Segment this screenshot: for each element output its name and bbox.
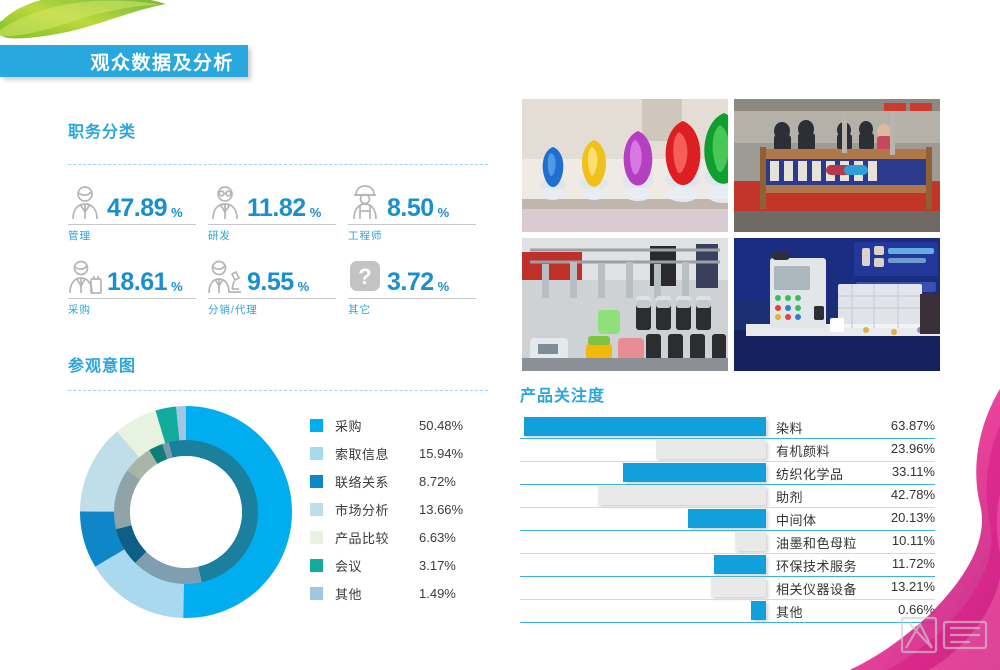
visit-intent-section: 参观意图 采购 50.48% 索取信息 15.94% 联络关系 8.72% 市场… xyxy=(68,352,488,623)
percent-sign: % xyxy=(310,205,322,220)
intent-legend: 采购 50.48% 索取信息 15.94% 联络关系 8.72% 市场分析 13… xyxy=(310,411,463,607)
product-bar-row: 中间体 20.13% xyxy=(520,508,950,531)
product-bar-row: 染料 63.87% xyxy=(520,416,950,439)
legend-value: 1.49% xyxy=(419,586,456,601)
job-label: 分销/代理 xyxy=(208,302,340,317)
legend-value: 50.48% xyxy=(419,418,463,433)
job-item: 9.55 % 分销/代理 xyxy=(208,259,348,317)
product-bar xyxy=(711,578,766,597)
legend-label: 会议 xyxy=(335,556,419,575)
intent-section-title: 参观意图 xyxy=(68,352,488,376)
product-value: 13.21% xyxy=(776,579,935,594)
product-bar xyxy=(751,601,766,620)
legend-swatch xyxy=(310,587,323,600)
bar-track xyxy=(520,577,766,600)
job-section-title: 职务分类 xyxy=(68,118,488,142)
legend-row: 市场分析 13.66% xyxy=(310,495,463,523)
legend-label: 其他 xyxy=(335,584,419,603)
product-bar-row: 有机颜料 23.96% xyxy=(520,439,950,462)
svg-text:?: ? xyxy=(358,264,371,289)
job-label: 管理 xyxy=(68,228,200,243)
bar-track xyxy=(520,439,766,462)
job-underline xyxy=(208,224,336,225)
engineer-hardhat-icon xyxy=(348,185,382,221)
product-section-title: 产品关注度 xyxy=(520,382,950,406)
product-bar xyxy=(656,440,766,459)
intent-donut-chart xyxy=(76,401,296,623)
legend-swatch xyxy=(310,419,323,432)
product-attention-section: 产品关注度 染料 63.87% 有机颜料 23.96% 纺织化学品 33.11%… xyxy=(520,382,950,623)
bar-track xyxy=(520,531,766,554)
percent-sign: % xyxy=(171,279,183,294)
product-value: 20.13% xyxy=(776,510,935,525)
percent-sign: % xyxy=(298,279,310,294)
legend-swatch xyxy=(310,503,323,516)
product-value: 10.11% xyxy=(776,533,935,548)
product-value: 23.96% xyxy=(776,441,935,456)
distributor-microscope-icon xyxy=(208,259,242,295)
percent-sign: % xyxy=(438,279,450,294)
product-bar-row: 其他 0.66% xyxy=(520,600,950,623)
job-percent: 9.55 xyxy=(247,270,294,295)
legend-swatch xyxy=(310,447,323,460)
product-bar xyxy=(714,555,766,574)
percent-sign: % xyxy=(438,205,450,220)
product-value: 63.87% xyxy=(776,418,935,433)
legend-label: 采购 xyxy=(335,416,419,435)
job-percent: 8.50 xyxy=(387,196,434,221)
job-divider xyxy=(68,164,488,165)
product-bar-row: 环保技术服务 11.72% xyxy=(520,554,950,577)
product-bar xyxy=(623,463,766,482)
legend-swatch xyxy=(310,531,323,544)
legend-row: 索取信息 15.94% xyxy=(310,439,463,467)
photo-grid xyxy=(522,99,940,371)
job-underline xyxy=(348,298,476,299)
researcher-goggles-icon xyxy=(208,185,242,221)
legend-row: 采购 50.48% xyxy=(310,411,463,439)
product-bar xyxy=(688,509,766,528)
product-bar-row: 相关仪器设备 13.21% xyxy=(520,577,950,600)
page-title: 观众数据及分析 xyxy=(90,48,234,75)
row-underline xyxy=(520,622,935,624)
bar-track xyxy=(520,485,766,508)
job-underline xyxy=(68,298,196,299)
legend-value: 6.63% xyxy=(419,530,456,545)
job-percent: 11.82 xyxy=(247,196,306,221)
job-item: 8.50 % 工程师 xyxy=(348,185,488,243)
legend-value: 8.72% xyxy=(419,474,456,489)
donut-center-hole xyxy=(130,456,242,568)
exhibition-machinery-photo xyxy=(734,99,940,232)
legend-value: 13.66% xyxy=(419,502,463,517)
product-bar-row: 助剂 42.78% xyxy=(520,485,950,508)
product-bar xyxy=(524,417,766,436)
manager-person-icon xyxy=(68,185,102,221)
product-bar-row: 油墨和色母粒 10.11% xyxy=(520,531,950,554)
bar-track xyxy=(520,462,766,485)
job-underline xyxy=(68,224,196,225)
product-value: 42.78% xyxy=(776,487,935,502)
legend-value: 3.17% xyxy=(419,558,456,573)
job-label: 工程师 xyxy=(348,228,480,243)
intent-divider xyxy=(68,390,488,391)
job-percent: 18.61 xyxy=(107,270,167,295)
job-item: 11.82 % 研发 xyxy=(208,185,348,243)
legend-swatch xyxy=(310,475,323,488)
legend-row: 产品比较 6.63% xyxy=(310,523,463,551)
percent-sign: % xyxy=(171,205,183,220)
product-bar-row: 纺织化学品 33.11% xyxy=(520,462,950,485)
product-bar xyxy=(598,486,766,505)
legend-row: 会议 3.17% xyxy=(310,551,463,579)
product-value: 33.11% xyxy=(776,464,935,479)
job-grid: 47.89 % 管理 11.82 % 研发 8.50 % 工程师 xyxy=(68,185,488,317)
job-percent: 3.72 xyxy=(387,270,434,295)
green-leaf-decoration xyxy=(0,0,194,44)
job-label: 采购 xyxy=(68,302,200,317)
legend-swatch xyxy=(310,559,323,572)
job-percent: 47.89 xyxy=(107,196,167,221)
job-item: ? 3.72 % 其它 xyxy=(348,259,488,317)
job-item: 18.61 % 采购 xyxy=(68,259,208,317)
colored-chemical-vessels-photo xyxy=(522,99,728,232)
job-item: 47.89 % 管理 xyxy=(68,185,208,243)
product-bar-chart: 染料 63.87% 有机颜料 23.96% 纺织化学品 33.11% 助剂 42… xyxy=(520,416,950,623)
bar-track xyxy=(520,416,766,439)
job-label: 研发 xyxy=(208,228,340,243)
bottling-line-photo xyxy=(522,238,728,371)
corner-watermark xyxy=(898,608,992,664)
control-cabinet-booth-photo xyxy=(734,238,940,371)
legend-row: 其他 1.49% xyxy=(310,579,463,607)
donut-svg xyxy=(76,401,296,623)
job-classification-section: 职务分类 47.89 % 管理 11.82 % 研发 xyxy=(68,118,488,317)
slide-page: 观众数据及分析 职务分类 47.89 % 管理 11.82 % 研发 xyxy=(0,0,1000,670)
legend-label: 市场分析 xyxy=(335,500,419,519)
legend-row: 联络关系 8.72% xyxy=(310,467,463,495)
job-underline xyxy=(348,224,476,225)
legend-label: 产品比较 xyxy=(335,528,419,547)
job-label: 其它 xyxy=(348,302,480,317)
page-title-bar: 观众数据及分析 xyxy=(0,45,248,77)
job-underline xyxy=(208,298,336,299)
legend-label: 联络关系 xyxy=(335,472,419,491)
bar-track xyxy=(520,508,766,531)
bar-track xyxy=(520,600,766,623)
question-mark-icon: ? xyxy=(348,259,382,295)
bar-track xyxy=(520,554,766,577)
purchaser-bag-icon xyxy=(68,259,102,295)
legend-value: 15.94% xyxy=(419,446,463,461)
product-value: 11.72% xyxy=(776,556,935,571)
product-bar xyxy=(735,532,766,551)
legend-label: 索取信息 xyxy=(335,444,419,463)
